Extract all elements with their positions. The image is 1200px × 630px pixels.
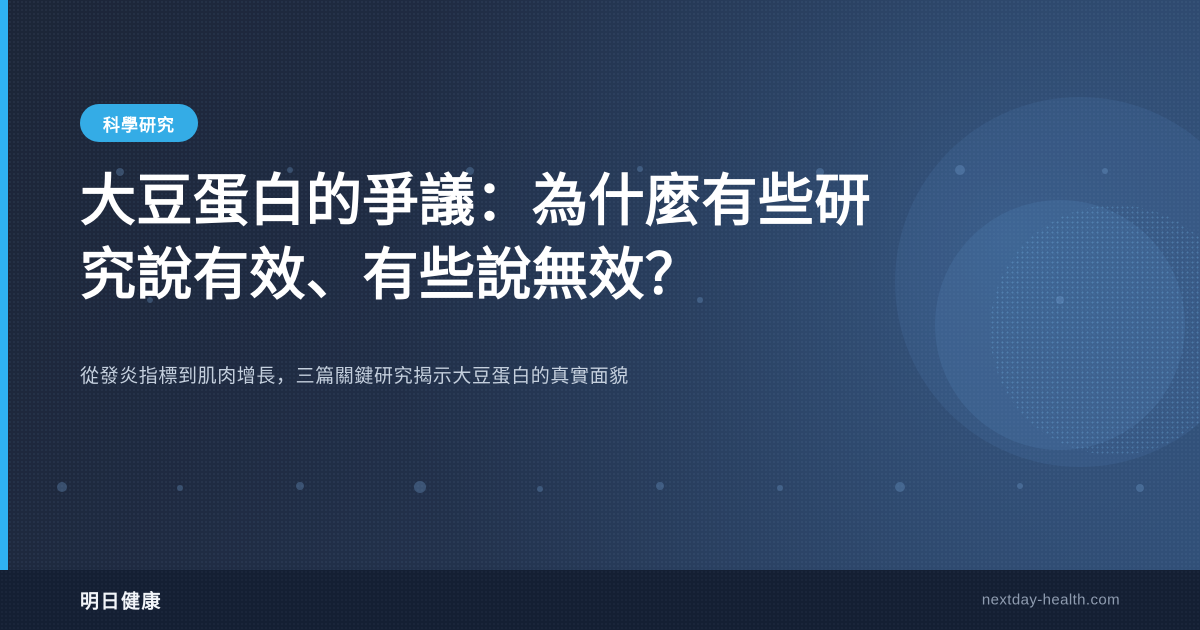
star-dot (895, 482, 905, 492)
star-dot (177, 485, 183, 491)
star-dot (537, 486, 543, 492)
page-subtitle: 從發炎指標到肌肉增長，三篇關鍵研究揭示大豆蛋白的真實面貌 (80, 362, 900, 392)
star-dot (777, 485, 783, 491)
star-dot (296, 482, 304, 490)
category-badge[interactable]: 科學研究 (80, 104, 198, 142)
star-dot (1056, 296, 1064, 304)
left-accent-bar (0, 0, 8, 570)
page-title: 大豆蛋白的爭議：為什麼有些研究說有效、有些說無效？ (80, 164, 910, 313)
star-dot (656, 482, 664, 490)
star-dot (414, 481, 426, 493)
star-dot (955, 165, 965, 175)
footer-bar: 明日健康 nextday-health.com (0, 570, 1200, 630)
site-url[interactable]: nextday-health.com (982, 592, 1120, 609)
star-dot (1136, 484, 1144, 492)
brand-name: 明日健康 (80, 587, 162, 614)
star-dot (57, 482, 67, 492)
star-dot (1017, 483, 1023, 489)
og-card: 科學研究 大豆蛋白的爭議：為什麼有些研究說有效、有些說無效？ 從發炎指標到肌肉增… (0, 0, 1200, 630)
star-dot (1102, 168, 1108, 174)
